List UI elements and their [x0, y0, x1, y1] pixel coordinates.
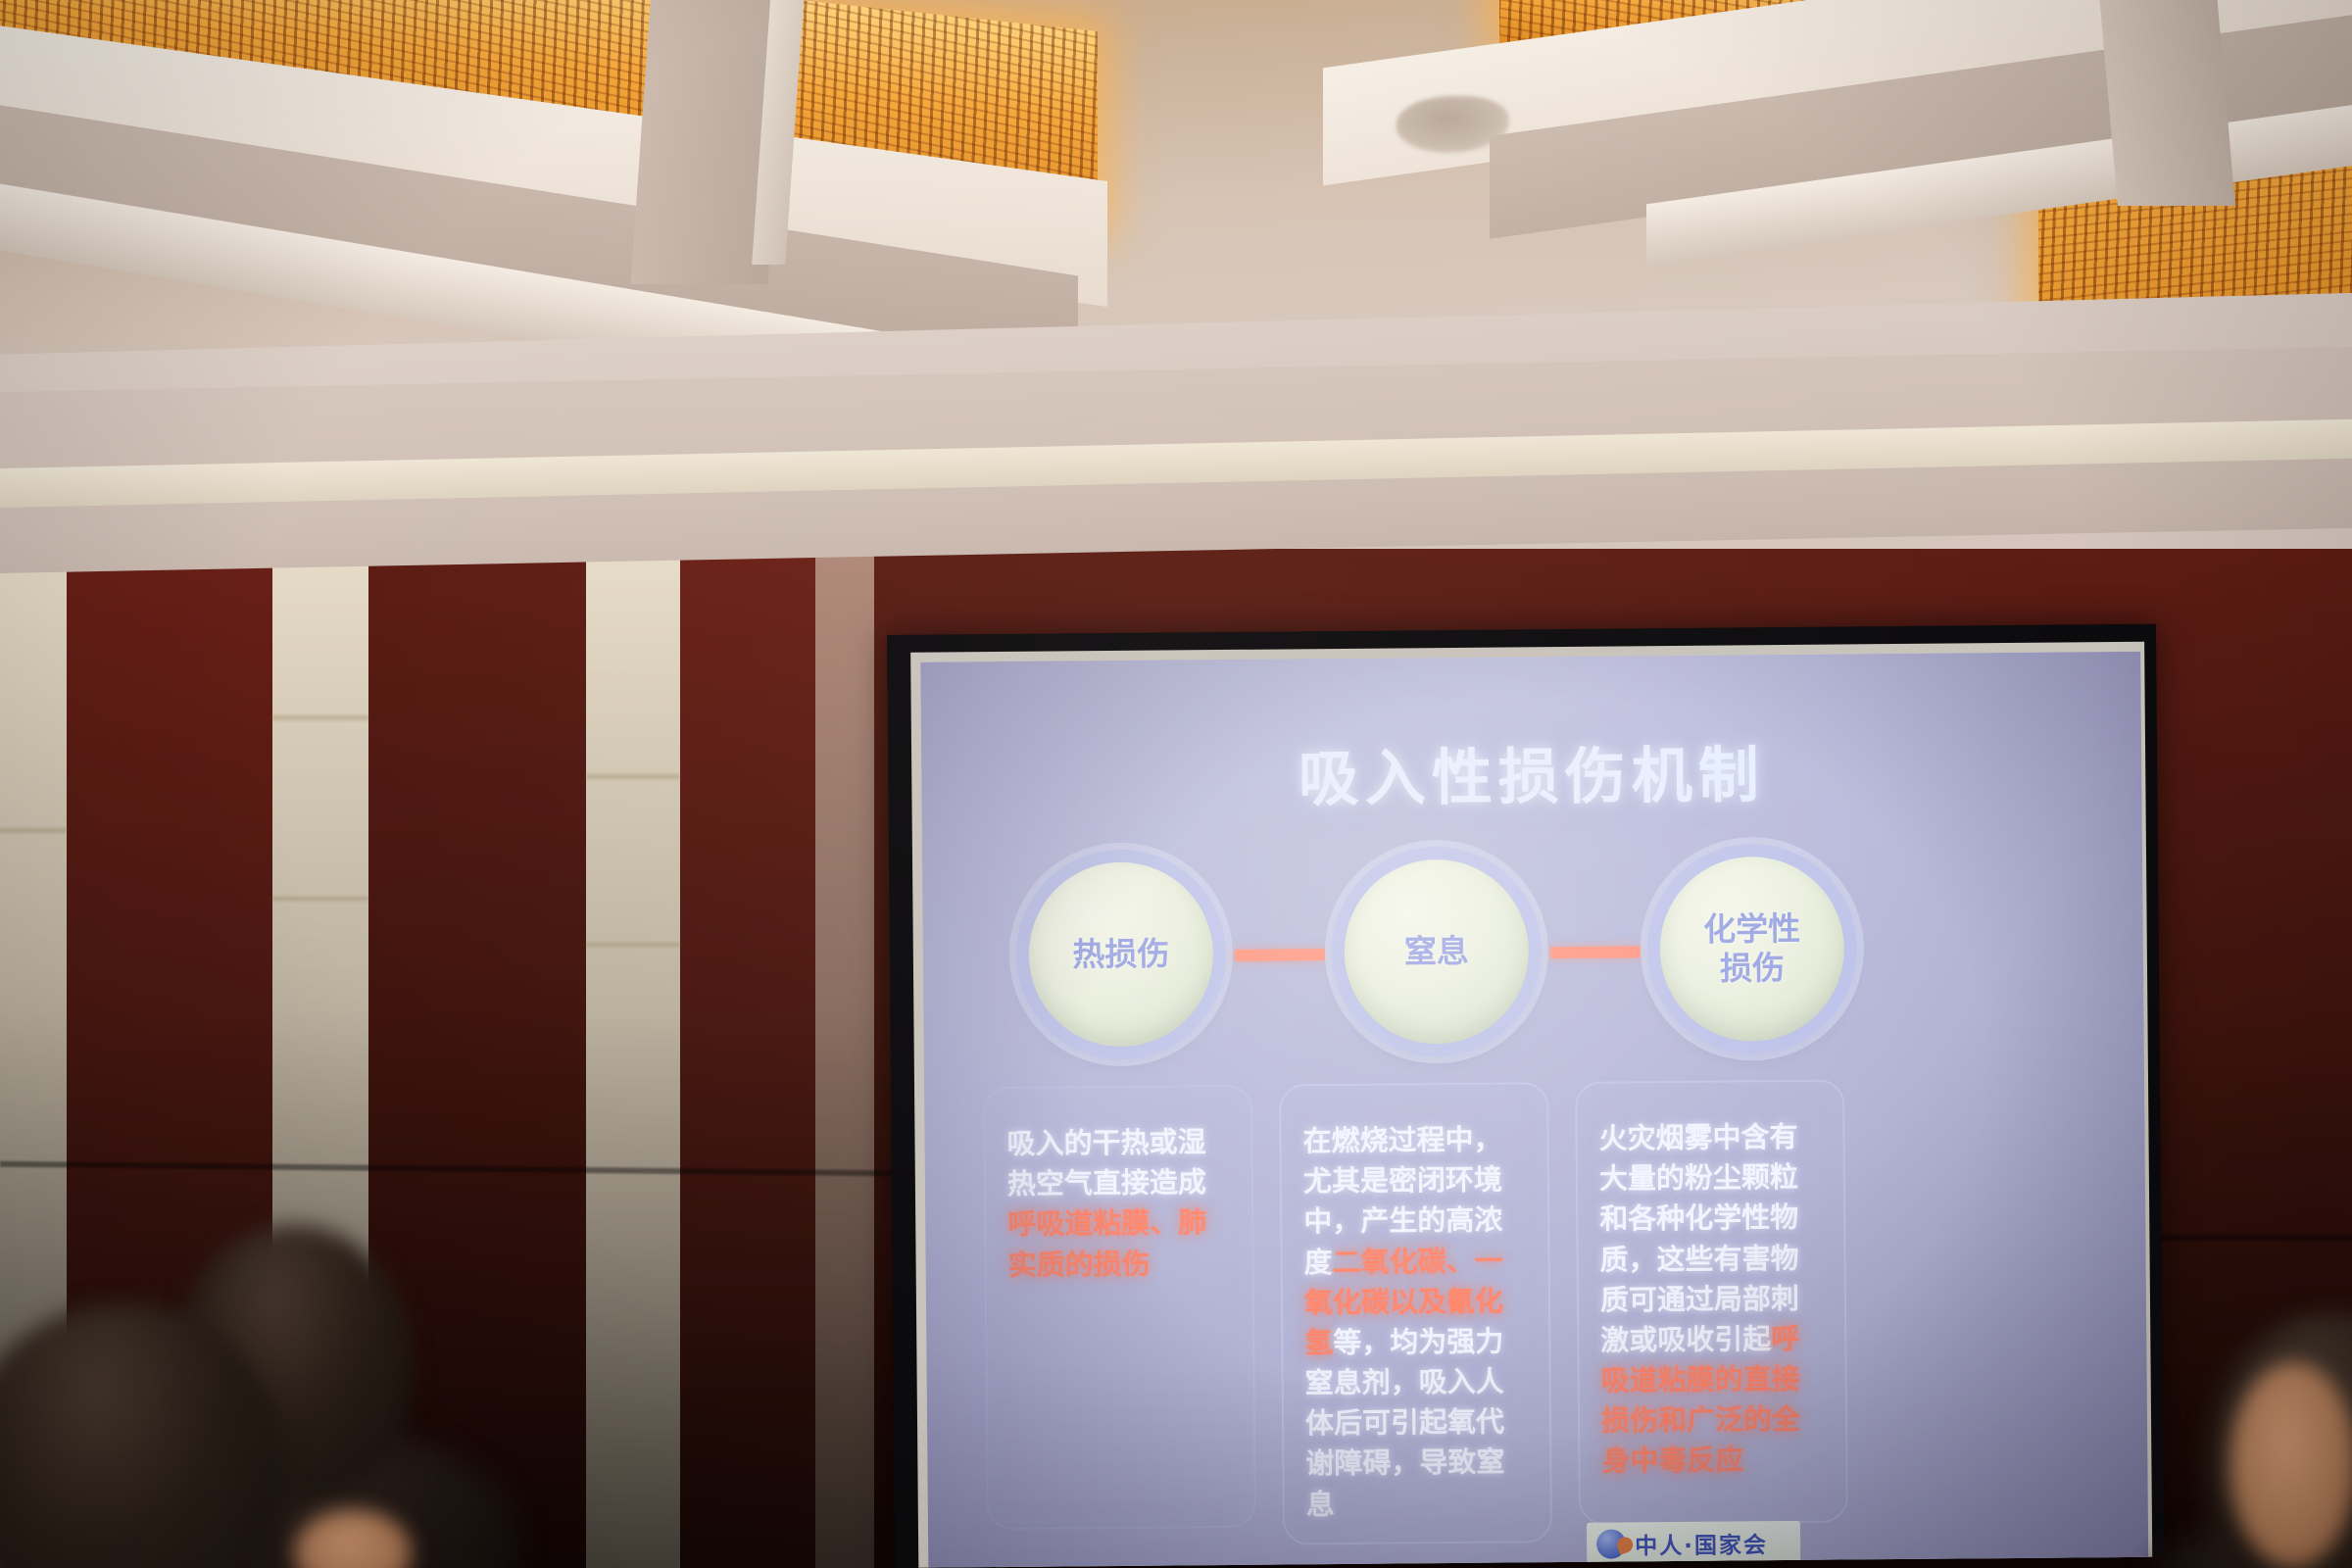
wall-seam	[2136, 1235, 2352, 1241]
box-asphyxia: 在燃烧过程中，尤其是密闭环境中，产生的高浓度二氧化碳、一氧化碳以及氰化氢等，均为…	[1279, 1082, 1552, 1544]
node-chemical[interactable]: 化学性 损伤	[1659, 856, 1845, 1042]
node-thermal[interactable]: 热损伤	[1028, 861, 1214, 1048]
ceiling-riser	[2096, 0, 2235, 206]
box-thermal-plain-1: 吸入的干热或湿热空气直接造成	[1006, 1125, 1206, 1200]
marble-vein	[586, 774, 680, 779]
screen-inner-border: 吸入性损伤机制 热损伤 窒息 化学性 损伤	[910, 642, 2152, 1568]
venue-logo: 中人·国家会	[1587, 1521, 1800, 1566]
marble-strip	[586, 549, 680, 1568]
node-row: 热损伤 窒息 化学性 损伤	[922, 854, 2144, 1070]
presentation-slide: 吸入性损伤机制 热损伤 窒息 化学性 损伤	[920, 652, 2148, 1568]
projection-screen: 吸入性损伤机制 热损伤 窒息 化学性 损伤	[920, 652, 2148, 1568]
node-asphyxia[interactable]: 窒息	[1344, 858, 1530, 1045]
slide-title: 吸入性损伤机制	[921, 722, 2142, 821]
marble-strip	[815, 549, 874, 1568]
marble-vein	[586, 943, 680, 947]
connector-arrow-1	[1235, 949, 1325, 961]
box-thermal-highlight: 呼吸道粘膜、肺实质的损伤	[1007, 1206, 1206, 1282]
box-asphyxia-plain-2: 等，均为强力窒息剂，吸入人体后可引起氧代谢障碍，导致窒息	[1305, 1324, 1505, 1520]
audience-face-right	[2229, 1362, 2352, 1568]
connector-arrow-2	[1550, 946, 1641, 958]
marble-vein	[272, 897, 368, 901]
description-box-row: 吸入的干热或湿热空气直接造成呼吸道粘膜、肺实质的损伤 在燃烧过程中，尤其是密闭环…	[924, 1077, 2148, 1548]
marble-vein	[0, 828, 67, 833]
projection-screen-frame: 吸入性损伤机制 热损伤 窒息 化学性 损伤	[887, 624, 2164, 1568]
marble-vein	[272, 715, 368, 720]
node-thermal-label: 热损伤	[1072, 934, 1169, 974]
venue-logo-text: 中人·国家会	[1635, 1526, 1768, 1560]
node-asphyxia-label: 窒息	[1404, 932, 1469, 972]
box-chemical-plain-1: 火灾烟雾中含有大量的粉尘颗粒和各种化学性物质，这些有害物质可通过局部刺激或吸收引…	[1598, 1120, 1799, 1357]
conference-room-photo: 吸入性损伤机制 热损伤 窒息 化学性 损伤	[0, 0, 2352, 1568]
node-chemical-label: 化学性 损伤	[1703, 909, 1801, 989]
box-chemical: 火灾烟雾中含有大量的粉尘颗粒和各种化学性物质，这些有害物质可通过局部刺激或吸收引…	[1575, 1079, 1848, 1524]
globe-icon	[1596, 1529, 1626, 1558]
box-thermal: 吸入的干热或湿热空气直接造成呼吸道粘膜、肺实质的损伤	[983, 1085, 1256, 1530]
